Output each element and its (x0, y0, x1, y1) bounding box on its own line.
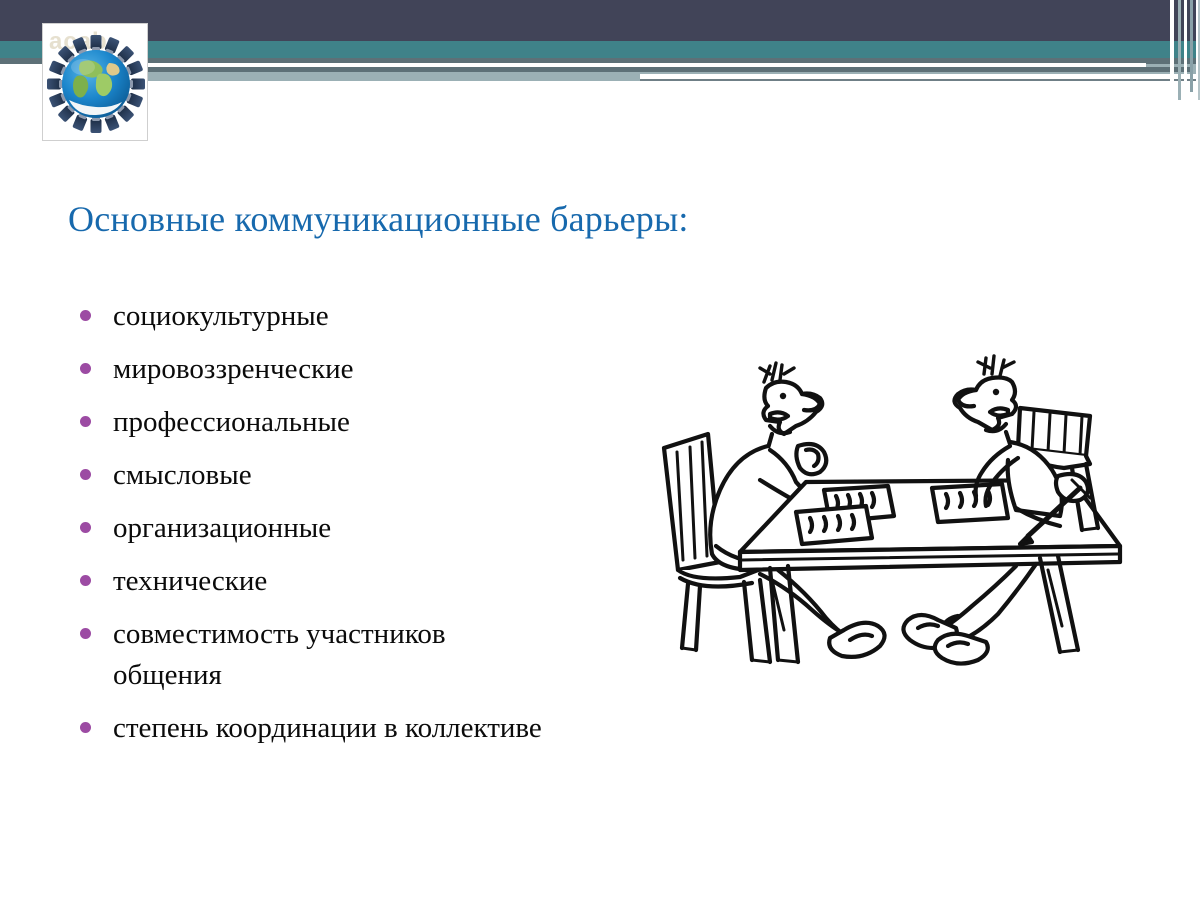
list-item: мировоззренческие (80, 349, 580, 390)
bullet-label: технические (113, 561, 267, 602)
bullet-label: мировоззренческие (113, 349, 354, 390)
bullet-label: социокультурные (113, 296, 329, 337)
list-item: степень координации в коллективе (80, 708, 580, 749)
bullet-label: профессиональные (113, 402, 350, 443)
bullet-dot-icon (80, 469, 91, 480)
header-banner (0, 0, 1200, 120)
slide-canvas: acab (0, 0, 1200, 900)
header-stripe-2 (1178, 0, 1181, 100)
list-item: социокультурные (80, 296, 580, 337)
header-stripe-4 (1190, 0, 1193, 92)
header-right-stripes (1164, 0, 1200, 105)
two-men-at-table-illustration (620, 330, 1160, 690)
logo-container: acab (42, 23, 148, 141)
bullet-list: социокультурные мировоззренческие профес… (80, 296, 580, 761)
header-stripe-1 (1170, 0, 1174, 96)
bullet-dot-icon (80, 722, 91, 733)
bullet-label: организационные (113, 508, 331, 549)
globe-conference-icon (47, 34, 145, 139)
teal-band (0, 41, 1200, 58)
navy-band (0, 0, 1200, 41)
list-item: организационные (80, 508, 580, 549)
list-item: смысловые (80, 455, 580, 496)
bullet-label: степень координации в коллективе (113, 708, 542, 749)
bullet-label: смысловые (113, 455, 252, 496)
bullet-dot-icon (80, 310, 91, 321)
bullet-label: совместимость участников общения (113, 614, 543, 696)
bullet-dot-icon (80, 628, 91, 639)
bullet-dot-icon (80, 363, 91, 374)
bullet-dot-icon (80, 416, 91, 427)
list-item: технические (80, 561, 580, 602)
list-item: профессиональные (80, 402, 580, 443)
list-item: совместимость участников общения (80, 614, 580, 696)
slide-title: Основные коммуникационные барьеры: (68, 198, 689, 240)
header-hairline-white-3 (0, 81, 1200, 90)
header-stripe-3 (1184, 0, 1187, 88)
bullet-dot-icon (80, 522, 91, 533)
bullet-dot-icon (80, 575, 91, 586)
